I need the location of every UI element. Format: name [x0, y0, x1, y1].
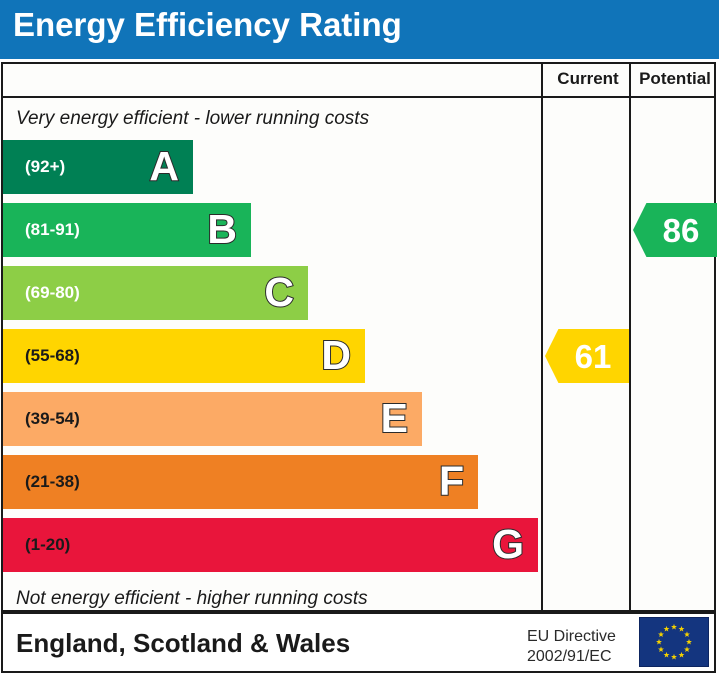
- band-d: (55-68)D: [3, 329, 365, 383]
- column-header-potential: Potential: [632, 62, 718, 96]
- eu-directive-label: EU Directive 2002/91/EC: [527, 627, 616, 667]
- column-header-current: Current: [544, 62, 632, 96]
- column-divider-potential: [629, 62, 631, 612]
- chart-title-bar: Energy Efficiency Rating: [0, 0, 719, 59]
- eu-directive-line1: EU Directive: [527, 627, 616, 647]
- band-f: (21-38)F: [3, 455, 478, 509]
- rating-value-current: 61: [563, 340, 612, 373]
- chart-footer: England, Scotland & Wales EU Directive 2…: [1, 612, 716, 673]
- band-g: (1-20)G: [3, 518, 538, 572]
- band-letter-f: F: [439, 455, 464, 509]
- eu-flag-icon: [639, 617, 709, 667]
- energy-efficiency-rating-chart: Energy Efficiency Rating Current Potenti…: [0, 0, 719, 675]
- band-a: (92+)A: [3, 140, 193, 194]
- band-range-b: (81-91): [25, 203, 80, 257]
- band-letter-b: B: [207, 203, 237, 257]
- caption-efficient: Very energy efficient - lower running co…: [16, 108, 369, 130]
- band-letter-a: A: [149, 140, 179, 194]
- band-letter-d: D: [321, 329, 351, 383]
- page-title: Energy Efficiency Rating: [13, 6, 402, 44]
- rating-arrow-potential: 86: [633, 203, 717, 257]
- band-range-a: (92+): [25, 140, 65, 194]
- rating-value-potential: 86: [651, 214, 700, 247]
- band-letter-g: G: [492, 518, 524, 572]
- band-range-f: (21-38): [25, 455, 80, 509]
- band-b: (81-91)B: [3, 203, 251, 257]
- band-e: (39-54)E: [3, 392, 422, 446]
- band-range-c: (69-80): [25, 266, 80, 320]
- band-letter-e: E: [381, 392, 408, 446]
- column-header-row: Current Potential: [1, 62, 716, 98]
- band-range-e: (39-54): [25, 392, 80, 446]
- band-c: (69-80)C: [3, 266, 308, 320]
- rating-arrow-current: 61: [545, 329, 629, 383]
- caption-inefficient: Not energy efficient - higher running co…: [16, 588, 368, 610]
- eu-directive-line2: 2002/91/EC: [527, 647, 616, 667]
- column-divider-current: [541, 62, 543, 612]
- band-range-d: (55-68): [25, 329, 80, 383]
- band-letter-c: C: [264, 266, 294, 320]
- region-label: England, Scotland & Wales: [16, 628, 350, 659]
- band-range-g: (1-20): [25, 518, 70, 572]
